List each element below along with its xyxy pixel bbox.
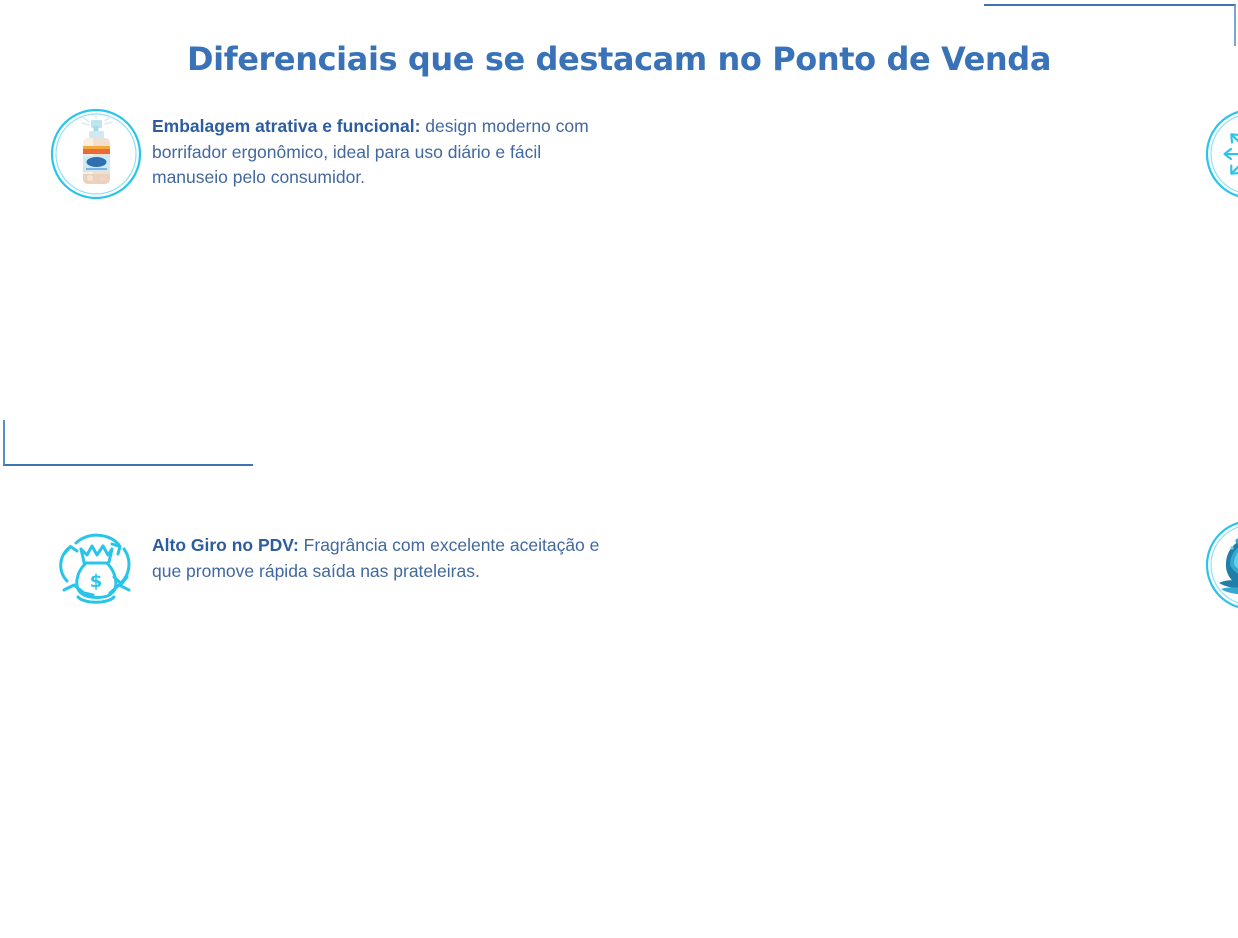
feature-item-packaging: Embalagem atrativa e funcional: design m… [0, 108, 600, 202]
feature-item-fragrance: Fragrância de alto apelo sensorial: arom… [600, 519, 1238, 938]
spray-bottle-icon [48, 106, 144, 202]
page-title: Diferenciais que se destacam no Ponto de… [0, 40, 1238, 78]
money-bag-turnover-icon: $ [48, 517, 144, 613]
feature-heading: Alto Giro no PDV: [152, 535, 299, 555]
feature-text: Alto Giro no PDV: Fragrância com excelen… [152, 519, 600, 584]
svg-text:$: $ [90, 571, 103, 592]
features-row-2: $ Alto Giro no PDV: Fragrância com excel… [0, 519, 1238, 938]
features-grid: Embalagem atrativa e funcional: design m… [0, 108, 1238, 938]
feature-text: Embalagem atrativa e funcional: design m… [152, 108, 600, 191]
feature-item-turnover: $ Alto Giro no PDV: Fragrância com excel… [0, 519, 600, 613]
feature-heading: Embalagem atrativa e funcional: [152, 116, 420, 136]
feature-item-versatility: Versatilidade de aplicação: indicado par… [600, 108, 1238, 471]
features-row-1: Embalagem atrativa e funcional: design m… [0, 108, 1238, 471]
ocean-wave-icon [1203, 517, 1238, 613]
multi-direction-arrows-icon [1203, 106, 1238, 202]
